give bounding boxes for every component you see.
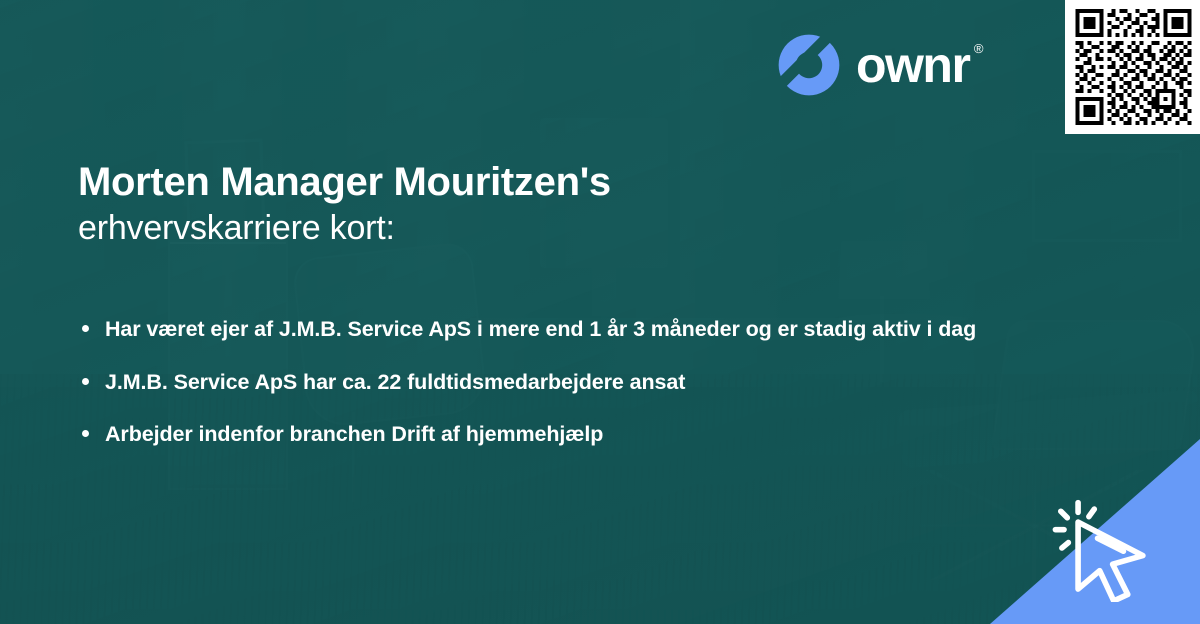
- career-facts-list: Har været ejer af J.M.B. Service ApS i m…: [80, 313, 1040, 451]
- bullet-dot-icon: [82, 430, 89, 437]
- bullet-dot-icon: [82, 325, 89, 332]
- headline-block: Morten Manager Mouritzen's erhvervskarri…: [78, 160, 978, 250]
- list-item: Arbejder indenfor branchen Drift af hjem…: [80, 418, 1040, 451]
- list-item-text: Har været ejer af J.M.B. Service ApS i m…: [105, 317, 976, 341]
- list-item: Har været ejer af J.M.B. Service ApS i m…: [80, 313, 1040, 346]
- ownr-circle-swirl-icon: [776, 32, 842, 98]
- mouse-cursor-click-icon: [1050, 494, 1158, 602]
- registered-trademark-symbol: ®: [974, 42, 984, 55]
- promo-card: ownr® Morten Manager Mouritzen's erhverv…: [0, 0, 1200, 624]
- qr-code-panel[interactable]: [1065, 0, 1200, 134]
- list-item-text: Arbejder indenfor branchen Drift af hjem…: [105, 422, 603, 446]
- ownr-logo[interactable]: ownr®: [776, 30, 983, 100]
- corner-accent: [990, 439, 1200, 624]
- page-title-line2: erhvervskarriere kort:: [78, 206, 978, 250]
- bullet-dot-icon: [82, 378, 89, 385]
- qr-code-icon[interactable]: [1075, 9, 1192, 125]
- ownr-wordmark-text: ownr: [856, 37, 969, 93]
- list-item: J.M.B. Service ApS har ca. 22 fuldtidsme…: [80, 366, 1040, 399]
- list-item-text: J.M.B. Service ApS har ca. 22 fuldtidsme…: [105, 370, 685, 394]
- page-title-line1: Morten Manager Mouritzen's: [78, 160, 978, 206]
- ownr-wordmark: ownr®: [856, 40, 983, 90]
